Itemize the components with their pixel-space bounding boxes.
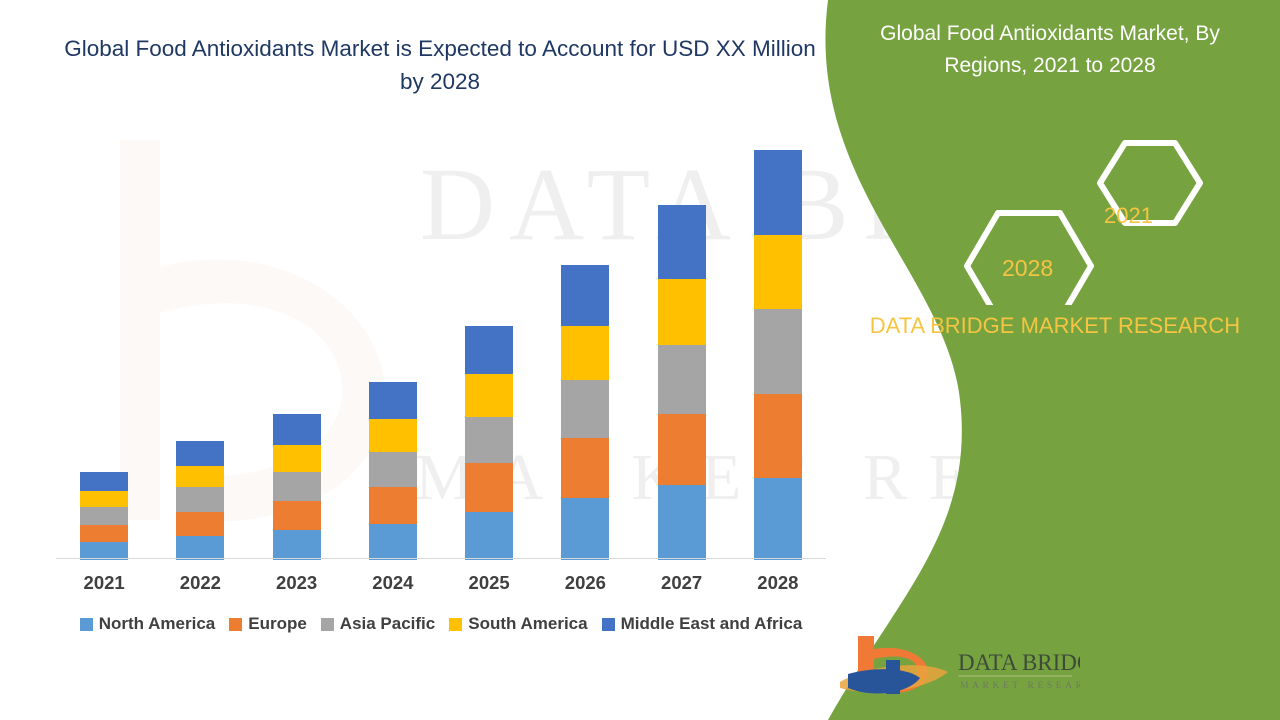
legend-label: South America: [468, 614, 587, 634]
panel-title: Global Food Antioxidants Market, By Regi…: [840, 18, 1260, 82]
x-axis-label-2026: 2026: [540, 572, 630, 594]
bar-segment: [561, 498, 609, 560]
legend-swatch-icon: [449, 618, 462, 631]
hexagon-2021-label: 2021: [1104, 203, 1153, 229]
bar-group-2026[interactable]: [561, 265, 609, 560]
bar-segment: [465, 374, 513, 417]
logo-secondary-text: MARKET RESEARCH: [960, 681, 1080, 691]
bar-segment: [658, 279, 706, 345]
bar-segment: [176, 466, 224, 488]
legend-swatch-icon: [321, 618, 334, 631]
legend-item-south-america[interactable]: South America: [449, 614, 587, 634]
brand-panel: Global Food Antioxidants Market, By Regi…: [800, 0, 1280, 720]
bar-segment: [465, 463, 513, 511]
chart-title: Global Food Antioxidants Market is Expec…: [60, 32, 820, 98]
x-axis-label-2021: 2021: [59, 572, 149, 594]
bar-segment: [658, 205, 706, 279]
bar-segment: [369, 382, 417, 419]
bar-segment: [561, 438, 609, 498]
bar-segment: [754, 478, 802, 560]
data-bridge-logo: DATA BRIDGE MARKET RESEARCH: [830, 630, 1080, 700]
bar-segment: [369, 419, 417, 452]
bar-segment: [754, 309, 802, 394]
bar-segment: [369, 487, 417, 523]
bar-segment: [465, 512, 513, 560]
bar-segment: [561, 326, 609, 380]
bar-segment: [561, 265, 609, 325]
legend-swatch-icon: [80, 618, 93, 631]
hexagon-badges: 2028 2021: [950, 135, 1250, 305]
bar-segment: [465, 417, 513, 463]
legend-item-north-america[interactable]: North America: [80, 614, 216, 634]
bar-segment: [369, 524, 417, 560]
bar-segment: [273, 530, 321, 560]
x-axis-label-2023: 2023: [252, 572, 342, 594]
x-axis-label-2027: 2027: [637, 572, 727, 594]
bar-segment: [561, 380, 609, 438]
hexagon-outlines: [950, 135, 1250, 305]
axis-baseline: [56, 558, 826, 559]
legend-item-europe[interactable]: Europe: [229, 614, 307, 634]
chart-legend: North AmericaEuropeAsia PacificSouth Ame…: [56, 614, 826, 634]
legend-item-asia-pacific[interactable]: Asia Pacific: [321, 614, 435, 634]
bar-group-2025[interactable]: [465, 326, 513, 560]
legend-label: Asia Pacific: [340, 614, 435, 634]
plot-area: [56, 150, 826, 560]
logo-primary-text: DATA BRIDGE: [958, 650, 1080, 675]
legend-item-middle-east-and-africa[interactable]: Middle East and Africa: [602, 614, 803, 634]
bar-segment: [273, 472, 321, 501]
bar-segment: [80, 491, 128, 507]
bar-segment: [176, 441, 224, 465]
bar-segment: [273, 414, 321, 445]
bar-segment: [273, 501, 321, 531]
bar-segment: [658, 345, 706, 414]
bar-segment: [658, 485, 706, 560]
bar-group-2028[interactable]: [754, 150, 802, 560]
bar-segment: [176, 512, 224, 536]
legend-swatch-icon: [602, 618, 615, 631]
bar-group-2023[interactable]: [273, 414, 321, 560]
bar-group-2022[interactable]: [176, 441, 224, 560]
bar-group-2021[interactable]: [80, 472, 128, 560]
bar-segment: [369, 452, 417, 487]
legend-swatch-icon: [229, 618, 242, 631]
bar-segment: [754, 150, 802, 235]
bar-segment: [658, 414, 706, 485]
bar-segment: [754, 235, 802, 310]
bar-segment: [176, 536, 224, 560]
legend-label: Europe: [248, 614, 307, 634]
bar-segment: [465, 326, 513, 374]
bar-segment: [754, 394, 802, 478]
bar-group-2024[interactable]: [369, 382, 417, 560]
bar-segment: [176, 487, 224, 511]
bar-segment: [80, 507, 128, 525]
x-axis: 20212022202320242025202620272028: [56, 566, 826, 600]
x-axis-label-2025: 2025: [444, 572, 534, 594]
chart-panel: Global Food Antioxidants Market is Expec…: [0, 0, 880, 720]
brand-name: DATA BRIDGE MARKET RESEARCH: [860, 310, 1250, 341]
bar-segment: [80, 525, 128, 543]
bar-segment: [273, 445, 321, 472]
legend-label: Middle East and Africa: [621, 614, 803, 634]
x-axis-label-2022: 2022: [155, 572, 245, 594]
bar-segment: [80, 472, 128, 491]
x-axis-label-2024: 2024: [348, 572, 438, 594]
bar-group-2027[interactable]: [658, 205, 706, 560]
hexagon-2028-label: 2028: [1002, 255, 1053, 282]
legend-label: North America: [99, 614, 216, 634]
